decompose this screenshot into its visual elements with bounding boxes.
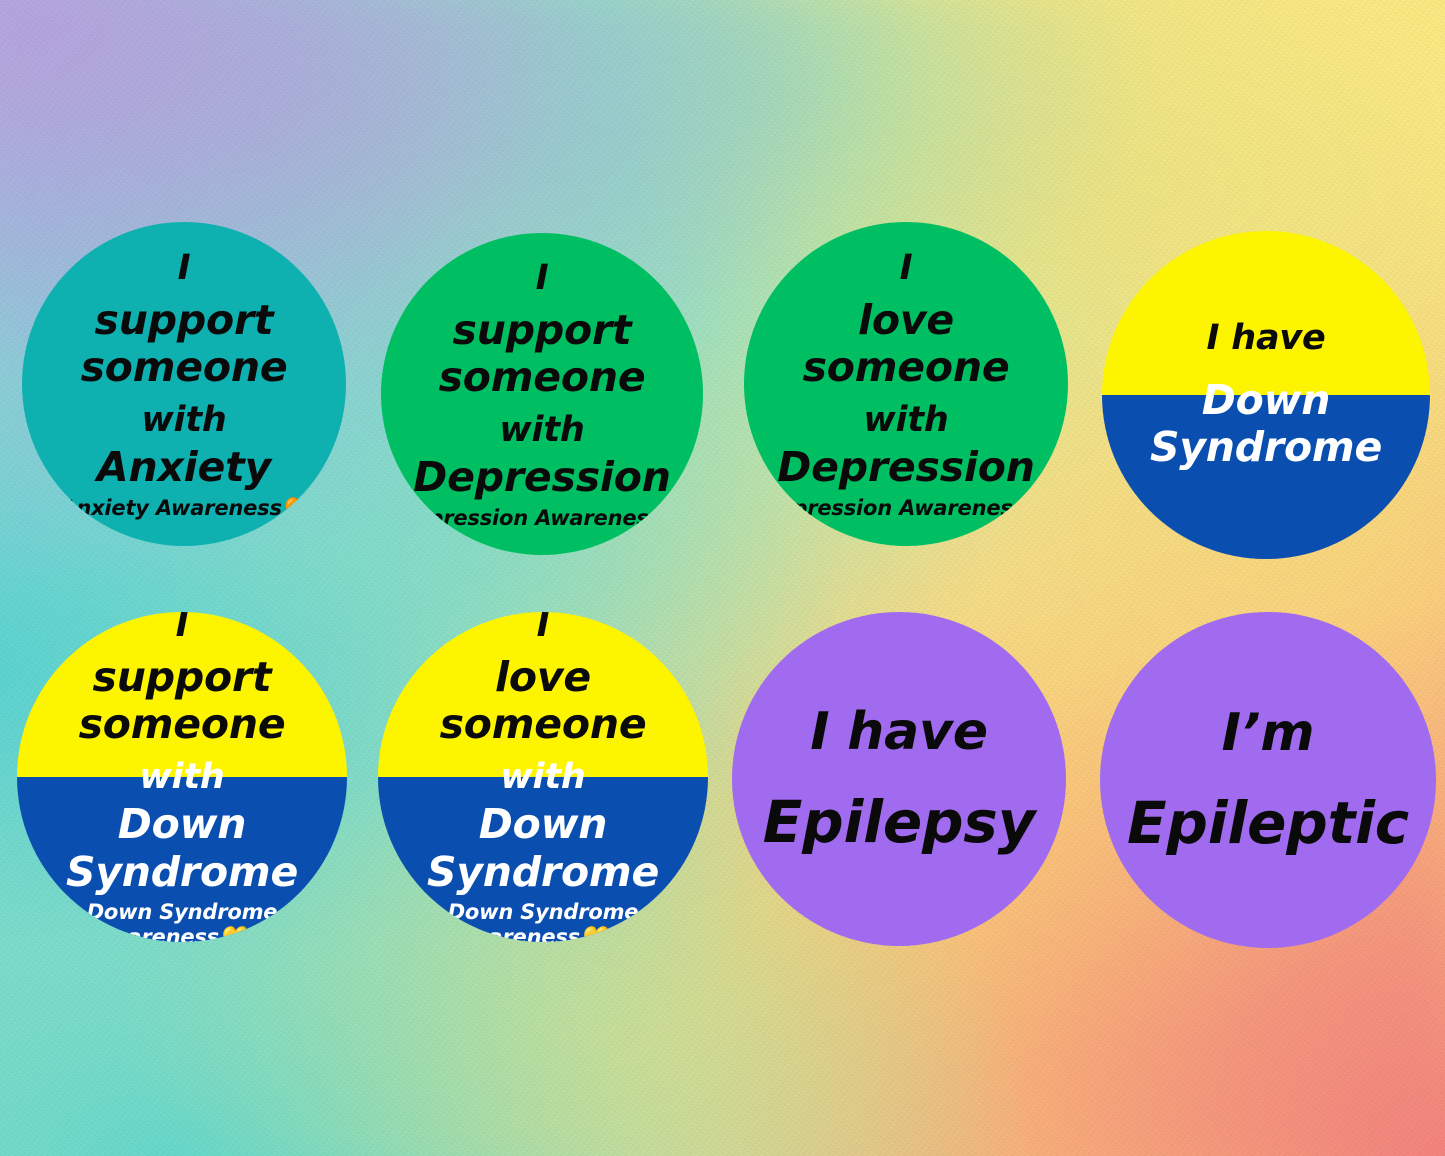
sticker-line: I	[32, 248, 336, 289]
sticker-text-block: I haveEpilepsy	[732, 612, 1066, 946]
sticker-line: Anxiety Awareness🧡	[32, 496, 336, 520]
sticker-line: I’m	[1110, 703, 1426, 763]
sticker-depression-love[interactable]: Ilove someonewithDepressionDepression Aw…	[744, 222, 1068, 546]
sticker-line: I have	[1112, 318, 1420, 359]
sticker-line: with	[388, 757, 698, 798]
sticker-line: I	[754, 248, 1058, 289]
sticker-text-block: Ilove someonewithDepressionDepression Aw…	[744, 222, 1068, 546]
watercolor-paper-grain	[0, 0, 1445, 1156]
sticker-anxiety-support[interactable]: Isupport someonewithAnxietyAnxiety Aware…	[22, 222, 346, 546]
sticker-text-block: I’mEpileptic	[1100, 612, 1436, 948]
sticker-epilepsy-have[interactable]: I haveEpilepsy	[732, 612, 1066, 946]
sticker-depression-support[interactable]: Isupport someonewithDepressionDepression…	[381, 233, 703, 555]
sticker-line: Down Syndrome	[27, 801, 337, 896]
sticker-down-syndrome-have[interactable]: I haveDown Syndrome	[1102, 231, 1430, 559]
sticker-text-block: Ilove someonewithDown SyndromeDown Syndr…	[378, 612, 708, 942]
sticker-line: I	[388, 612, 698, 646]
sticker-line: I have	[742, 702, 1056, 762]
sticker-line: love someone	[388, 654, 698, 749]
sticker-line: Down Syndrome Awareness💛💙	[388, 900, 698, 942]
sticker-text-block: Isupport someonewithDown SyndromeDown Sy…	[17, 612, 347, 942]
sticker-text-block: I haveDown Syndrome	[1102, 231, 1430, 559]
sticker-line: Depression	[754, 444, 1058, 492]
sticker-line: Down Syndrome	[1112, 377, 1420, 472]
sticker-down-syndrome-love[interactable]: Ilove someonewithDown SyndromeDown Syndr…	[378, 612, 708, 942]
sticker-sheet-canvas: Isupport someonewithAnxietyAnxiety Aware…	[0, 0, 1445, 1156]
sticker-line: with	[754, 400, 1058, 441]
sticker-epileptic[interactable]: I’mEpileptic	[1100, 612, 1436, 948]
sticker-line: with	[27, 757, 337, 798]
sticker-line: Down Syndrome	[388, 801, 698, 896]
sticker-line: I	[391, 258, 693, 299]
watercolor-background-base	[0, 0, 1445, 1156]
watercolor-background-blotches	[0, 0, 1445, 1156]
sticker-line: with	[391, 410, 693, 451]
sticker-text-block: Isupport someonewithDepressionDepression…	[381, 233, 703, 555]
sticker-line: support someone	[391, 307, 693, 402]
sticker-line: I	[27, 612, 337, 646]
sticker-line: Depression Awareness💚	[754, 496, 1058, 520]
sticker-line: support someone	[27, 654, 337, 749]
sticker-line: Depression Awareness💚	[391, 506, 693, 530]
sticker-line: Epileptic	[1110, 790, 1426, 857]
sticker-text-block: Isupport someonewithAnxietyAnxiety Aware…	[22, 222, 346, 546]
sticker-line: with	[32, 400, 336, 441]
sticker-down-syndrome-support[interactable]: Isupport someonewithDown SyndromeDown Sy…	[17, 612, 347, 942]
sticker-line: Down Syndrome Awareness💛💙	[27, 900, 337, 942]
sticker-line: Epilepsy	[742, 789, 1056, 856]
sticker-line: Anxiety	[32, 444, 336, 492]
sticker-line: love someone	[754, 297, 1058, 392]
sticker-line: Depression	[391, 454, 693, 502]
sticker-line: support someone	[32, 297, 336, 392]
